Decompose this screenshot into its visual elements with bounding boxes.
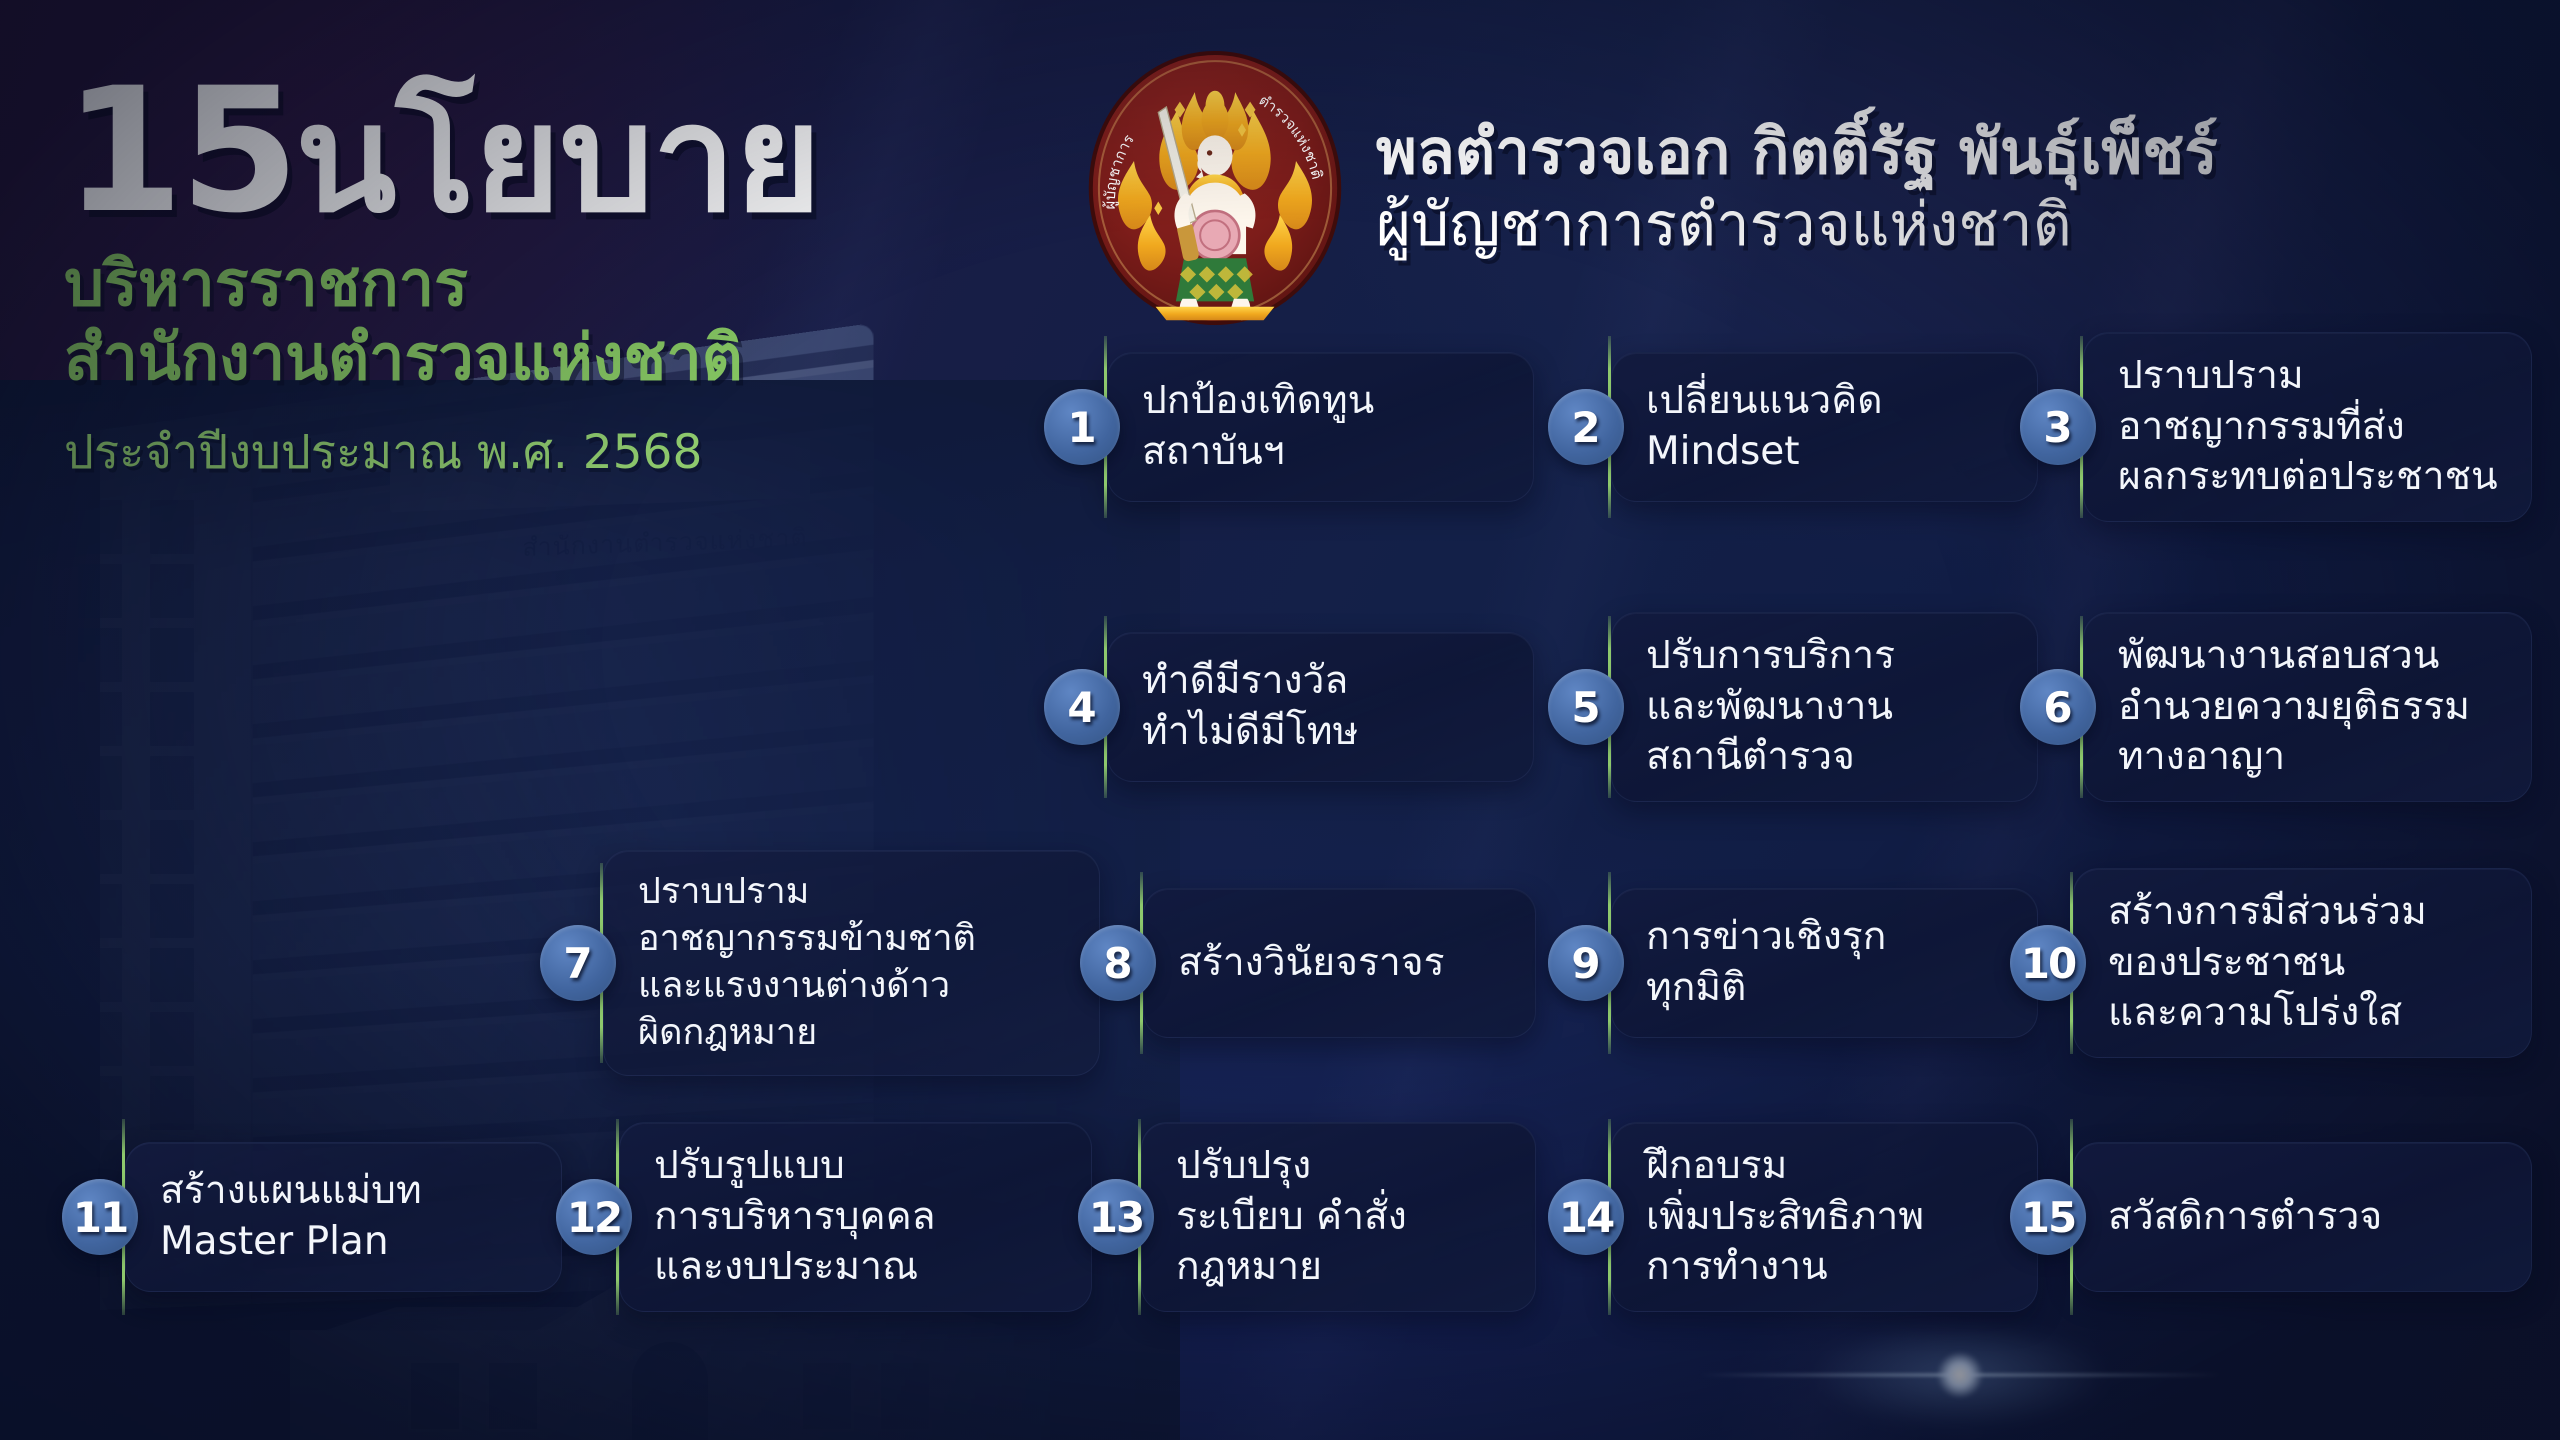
policy-label-2: เปลี่ยนแนวคิด Mindset: [1646, 376, 1883, 477]
officer-position: ผู้บัญชาการตำรวจแห่งชาติ: [1376, 189, 2218, 262]
policy-item-7[interactable]: 7 ปราบปราม อาชญากรรมข้ามชาติ และแรงงานต่…: [540, 872, 1100, 1054]
policy-item-5[interactable]: 5 ปรับการบริการ และพัฒนางาน สถานีตำรวจ: [1548, 616, 2038, 798]
policy-label-3: ปราบปราม อาชญากรรมที่ส่ง ผลกระทบต่อประชา…: [2118, 351, 2498, 503]
royal-thai-police-seal-icon: ผู้บัญชาการ ตำรวจแห่งชาติ: [1080, 42, 1350, 334]
policy-badge-12: 12: [556, 1179, 632, 1255]
policy-label-13: ปรับปรุง ระเบียบ คำสั่ง กฎหมาย: [1176, 1141, 1407, 1293]
policy-label-9: การข่าวเชิงรุก ทุกมิติ: [1646, 912, 1886, 1013]
policy-label-4: ทำดีมีรางวัล ทำไม่ดีมีโทษ: [1142, 656, 1358, 757]
policy-label-5: ปรับการบริการ และพัฒนางาน สถานีตำรวจ: [1646, 631, 1895, 783]
policy-label-1: ปกป้องเทิดทูน สถาบันฯ: [1142, 376, 1374, 477]
subtitle-line-1: บริหารราชการ: [64, 247, 1084, 321]
infographic-canvas: สำนักงานตำรวจแห่งชาติ 15นโยบาย บริหารราช…: [0, 0, 2560, 1440]
policy-item-11[interactable]: 11 สร้างแผนแม่บท Master Plan: [62, 1126, 562, 1308]
policy-badge-10: 10: [2010, 925, 2086, 1001]
policy-badge-2: 2: [1548, 389, 1624, 465]
policy-label-14: ฝึกอบรม เพิ่มประสิทธิภาพ การทำงาน: [1646, 1141, 1924, 1293]
policy-item-14[interactable]: 14 ฝึกอบรม เพิ่มประสิทธิภาพ การทำงาน: [1548, 1126, 2038, 1308]
policy-item-1[interactable]: 1 ปกป้องเทิดทูน สถาบันฯ: [1044, 336, 1534, 518]
policy-item-10[interactable]: 10 สร้างการมีส่วนร่วม ของประชาชน และความ…: [2010, 872, 2532, 1054]
policy-item-2[interactable]: 2 เปลี่ยนแนวคิด Mindset: [1548, 336, 2038, 518]
page-title: 15นโยบาย: [64, 68, 1084, 233]
policy-item-3[interactable]: 3 ปราบปราม อาชญากรรมที่ส่ง ผลกระทบต่อประ…: [2020, 336, 2532, 518]
policy-badge-4: 4: [1044, 669, 1120, 745]
policy-count: 15: [64, 50, 295, 251]
policy-item-15[interactable]: 15 สวัสดิการตำรวจ: [2010, 1126, 2532, 1308]
policy-item-4[interactable]: 4 ทำดีมีรางวัล ทำไม่ดีมีโทษ: [1044, 616, 1534, 798]
policy-card-2[interactable]: เปลี่ยนแนวคิด Mindset: [1611, 352, 2038, 502]
policy-badge-3: 3: [2020, 389, 2096, 465]
policy-label-10: สร้างการมีส่วนร่วม ของประชาชน และความโปร…: [2108, 887, 2427, 1039]
policy-card-5[interactable]: ปรับการบริการ และพัฒนางาน สถานีตำรวจ: [1611, 612, 2038, 802]
policy-card-7[interactable]: ปราบปราม อาชญากรรมข้ามชาติ และแรงงานต่าง…: [603, 850, 1100, 1075]
policy-count-word: นโยบาย: [295, 73, 820, 245]
policy-label-8: สร้างวินัยจราจร: [1178, 938, 1445, 989]
policy-item-8[interactable]: 8 สร้างวินัยจราจร: [1080, 872, 1536, 1054]
policy-badge-9: 9: [1548, 925, 1624, 1001]
headline-block: 15นโยบาย บริหารราชการ สำนักงานตำรวจแห่งช…: [64, 68, 1084, 489]
policy-badge-6: 6: [2020, 669, 2096, 745]
policy-card-4[interactable]: ทำดีมีรางวัล ทำไม่ดีมีโทษ: [1107, 632, 1534, 782]
policy-badge-13: 13: [1078, 1179, 1154, 1255]
policy-label-6: พัฒนางานสอบสวน อำนวยความยุติธรรม ทางอาญา: [2118, 631, 2470, 783]
policy-item-6[interactable]: 6 พัฒนางานสอบสวน อำนวยความยุติธรรม ทางอา…: [2020, 616, 2532, 798]
officer-name: พลตำรวจเอก กิตติ์รัฐ พันธุ์เพ็ชร์: [1376, 114, 2218, 190]
policy-card-15[interactable]: สวัสดิการตำรวจ: [2073, 1142, 2532, 1292]
policy-item-9[interactable]: 9 การข่าวเชิงรุก ทุกมิติ: [1548, 872, 2038, 1054]
policy-card-6[interactable]: พัฒนางานสอบสวน อำนวยความยุติธรรม ทางอาญา: [2083, 612, 2532, 802]
policy-badge-1: 1: [1044, 389, 1120, 465]
policy-card-12[interactable]: ปรับรูปแบบ การบริหารบุคคล และงบประมาณ: [619, 1122, 1092, 1312]
fiscal-year-line: ประจำปีงบประมาณ พ.ศ. 2568: [64, 414, 1084, 489]
policy-badge-15: 15: [2010, 1179, 2086, 1255]
officer-block: ผู้บัญชาการ ตำรวจแห่งชาติ พลตำรวจเอก กิต…: [1080, 42, 2218, 334]
policy-label-7: ปราบปราม อาชญากรรมข้ามชาติ และแรงงานต่าง…: [638, 869, 976, 1056]
policy-label-12: ปรับรูปแบบ การบริหารบุคคล และงบประมาณ: [654, 1141, 936, 1293]
policy-item-13[interactable]: 13 ปรับปรุง ระเบียบ คำสั่ง กฎหมาย: [1078, 1126, 1536, 1308]
policy-badge-7: 7: [540, 925, 616, 1001]
policy-card-13[interactable]: ปรับปรุง ระเบียบ คำสั่ง กฎหมาย: [1141, 1122, 1536, 1312]
policy-card-8[interactable]: สร้างวินัยจราจร: [1143, 888, 1536, 1038]
policy-label-11: สร้างแผนแม่บท Master Plan: [160, 1166, 422, 1267]
policy-card-1[interactable]: ปกป้องเทิดทูน สถาบันฯ: [1107, 352, 1534, 502]
policy-card-11[interactable]: สร้างแผนแม่บท Master Plan: [125, 1142, 562, 1292]
policy-badge-5: 5: [1548, 669, 1624, 745]
policy-card-3[interactable]: ปราบปราม อาชญากรรมที่ส่ง ผลกระทบต่อประชา…: [2083, 332, 2532, 522]
policy-badge-11: 11: [62, 1179, 138, 1255]
policy-card-10[interactable]: สร้างการมีส่วนร่วม ของประชาชน และความโปร…: [2073, 868, 2532, 1058]
policy-badge-14: 14: [1548, 1179, 1624, 1255]
policy-label-15: สวัสดิการตำรวจ: [2108, 1192, 2382, 1243]
policy-item-12[interactable]: 12 ปรับรูปแบบ การบริหารบุคคล และงบประมาณ: [556, 1126, 1092, 1308]
policy-card-14[interactable]: ฝึกอบรม เพิ่มประสิทธิภาพ การทำงาน: [1611, 1122, 2038, 1312]
policy-card-9[interactable]: การข่าวเชิงรุก ทุกมิติ: [1611, 888, 2038, 1038]
subtitle-line-2: สำนักงานตำรวจแห่งชาติ: [64, 321, 1084, 395]
policy-badge-8: 8: [1080, 925, 1156, 1001]
